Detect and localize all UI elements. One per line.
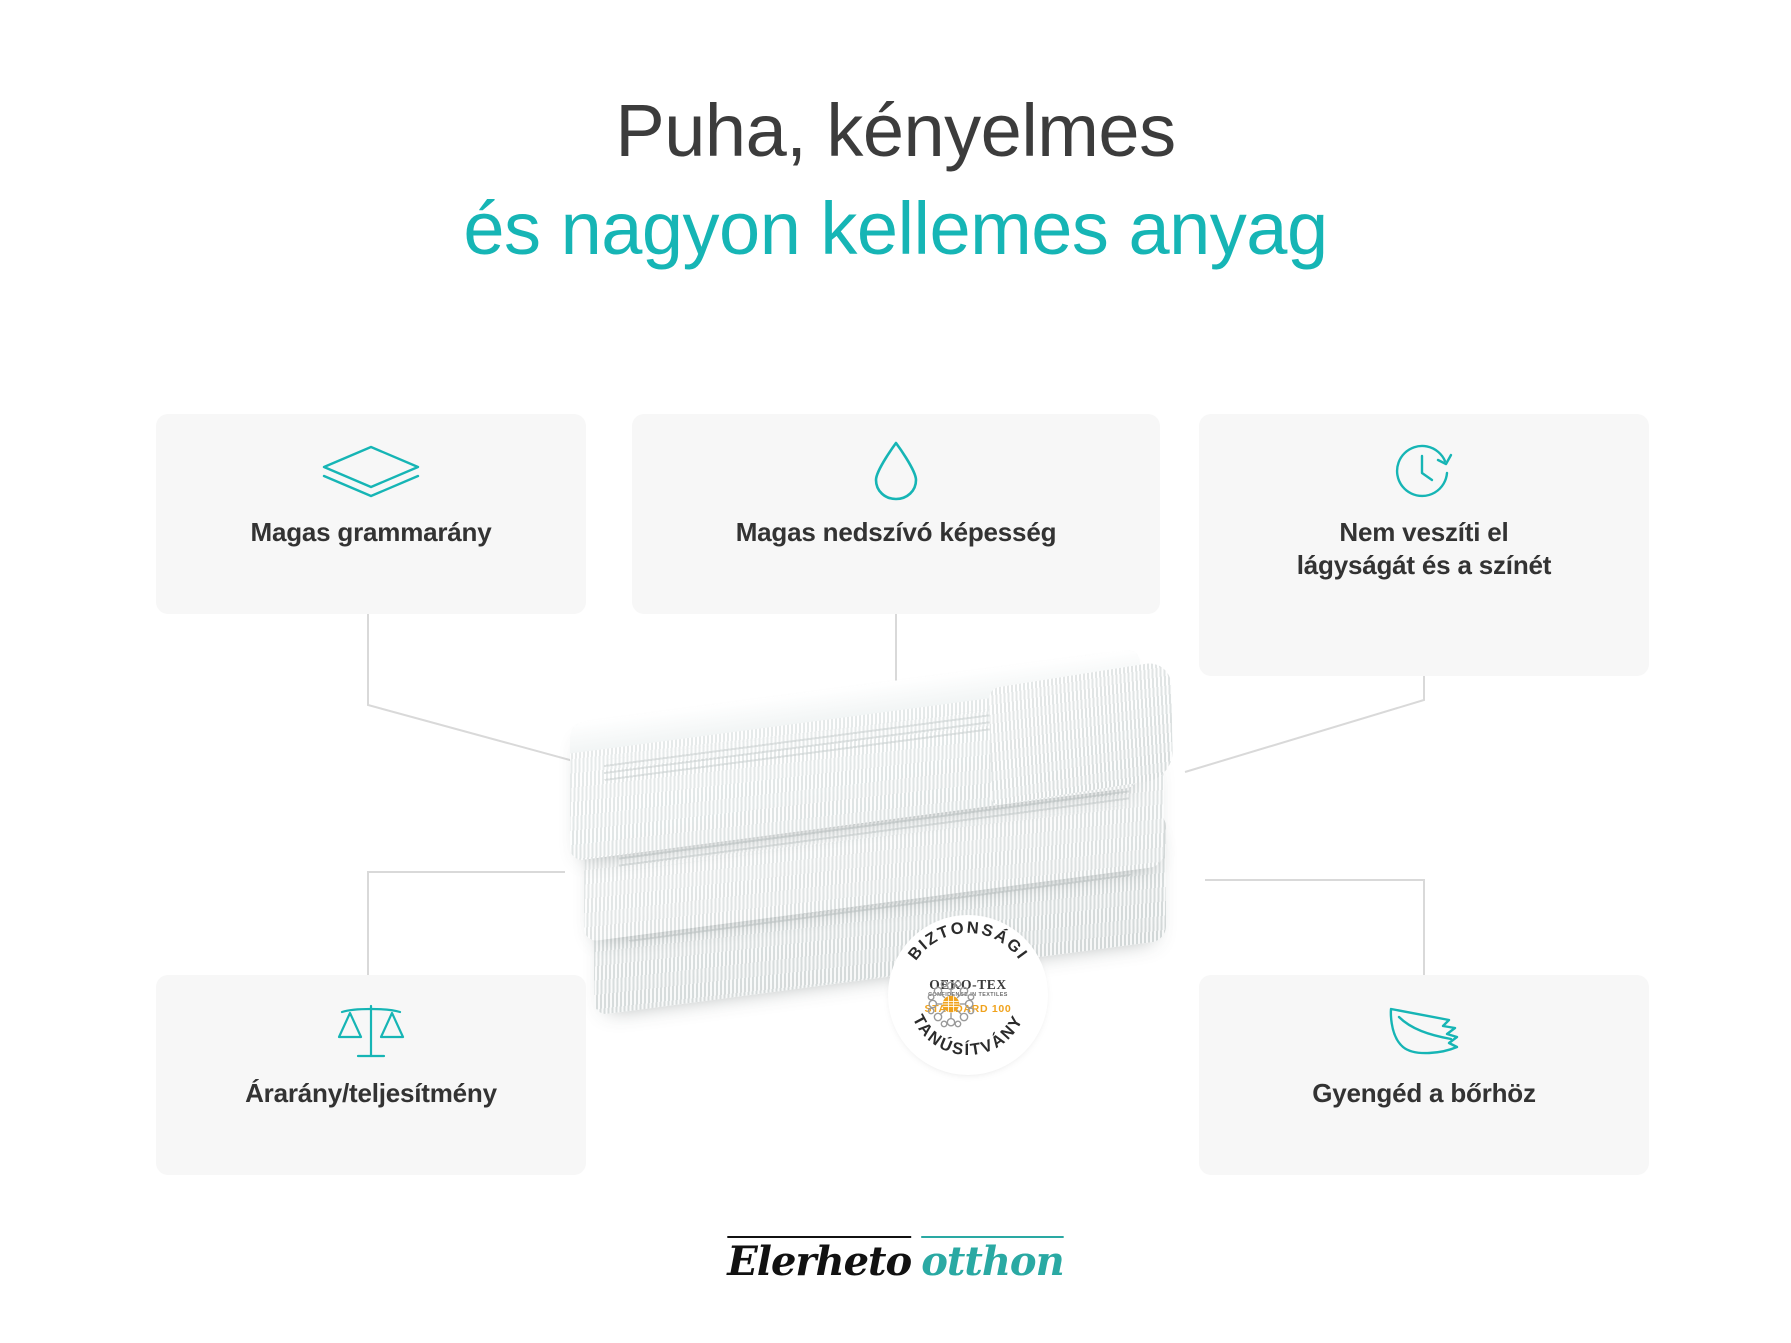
feature-card-colorfastness-label: Nem veszíti el lágyságát és a színét [1279,516,1569,583]
towel-stack-image [560,660,1200,1090]
feature-card-grammar[interactable]: Magas grammarány [156,414,586,614]
connector-gentle [1205,880,1424,975]
feature-card-price-performance[interactable]: Árarány/teljesítmény [156,975,586,1175]
layers-icon [319,440,423,502]
colorfastness-label-line-2: lágyságát és a színét [1297,550,1551,580]
feature-card-price-performance-label: Árarány/teljesítmény [227,1077,515,1110]
headline-line-1: Puha, kényelmes [0,88,1791,174]
connector-price [368,872,565,975]
water-drop-icon [870,440,922,502]
feature-card-absorbency-label: Magas nedszívó képesség [718,516,1075,549]
feather-icon [1385,1001,1463,1063]
oeko-tex-certification-badge: BIZTONSÁGI TANÚSÍTVÁNY [888,915,1048,1075]
feature-card-absorbency[interactable]: Magas nedszívó képesség [632,414,1160,614]
colorfastness-label-line-1: Nem veszíti el [1339,517,1508,547]
feature-card-grammar-label: Magas grammarány [232,516,509,549]
feature-card-gentle-on-skin[interactable]: Gyengéd a bőrhöz [1199,975,1649,1175]
clock-rotate-icon [1391,440,1457,502]
balance-scale-icon [336,1001,406,1063]
brand-logo-part-2: otthon [921,1238,1063,1285]
svg-text:BIZTONSÁGI: BIZTONSÁGI [905,919,1032,964]
infographic-canvas: Puha, kényelmes és nagyon kellemes anyag [0,0,1791,1343]
feature-card-colorfastness[interactable]: Nem veszíti el lágyságát és a színét [1199,414,1649,676]
page-title: Puha, kényelmes és nagyon kellemes anyag [0,88,1791,272]
headline-line-2: és nagyon kellemes anyag [0,186,1791,272]
oeko-flower-icon [925,978,977,1030]
brand-logo[interactable]: Elerhetootthon [0,1238,1791,1285]
brand-logo-part-1: Elerheto [727,1238,911,1285]
badge-arc-top-text: BIZTONSÁGI [905,919,1032,964]
feature-card-gentle-on-skin-label: Gyengéd a bőrhöz [1294,1077,1554,1110]
connector-color [1185,676,1424,772]
